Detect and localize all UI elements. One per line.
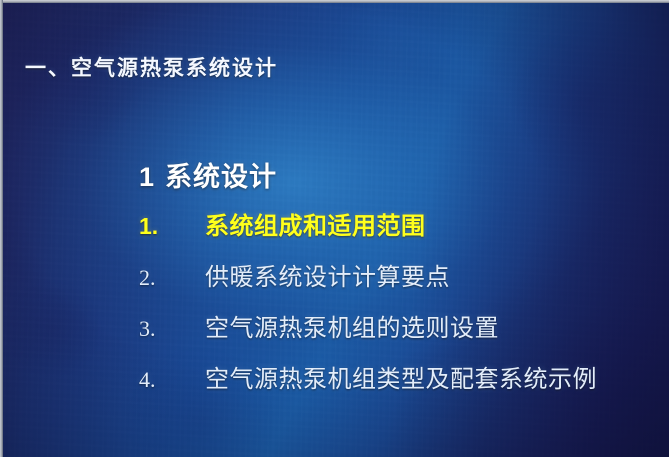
list-item-label: 系统组成和适用范围 — [205, 206, 426, 241]
list-item[interactable]: 2. 供暖系统设计计算要点 — [139, 257, 659, 308]
list-item-index: 2. — [139, 265, 205, 291]
slide-border-left — [0, 0, 3, 457]
list-item[interactable]: 4. 空气源热泵机组类型及配套系统示例 — [139, 359, 659, 410]
list-item-index: 1. — [139, 213, 205, 240]
slide-border-top — [0, 0, 669, 3]
list-item-label: 供暖系统设计计算要点 — [205, 257, 450, 292]
slide-title-text: 系统设计 — [165, 162, 277, 192]
section-heading: 一、空气源热泵系统设计 — [25, 52, 278, 82]
list-item-label: 空气源热泵机组类型及配套系统示例 — [205, 359, 597, 394]
slide-title-number: 1 — [139, 162, 155, 192]
list-item-index: 3. — [139, 316, 205, 342]
list-item[interactable]: 1. 系统组成和适用范围 — [139, 206, 659, 257]
presentation-slide: 一、空气源热泵系统设计 1系统设计 1. 系统组成和适用范围 2. 供暖系统设计… — [0, 0, 669, 457]
list-item[interactable]: 3. 空气源热泵机组的选则设置 — [139, 308, 659, 359]
list-item-index: 4. — [139, 367, 205, 393]
list-item-label: 空气源热泵机组的选则设置 — [205, 308, 499, 343]
agenda-list: 1. 系统组成和适用范围 2. 供暖系统设计计算要点 3. 空气源热泵机组的选则… — [139, 206, 659, 410]
slide-title: 1系统设计 — [139, 155, 277, 194]
